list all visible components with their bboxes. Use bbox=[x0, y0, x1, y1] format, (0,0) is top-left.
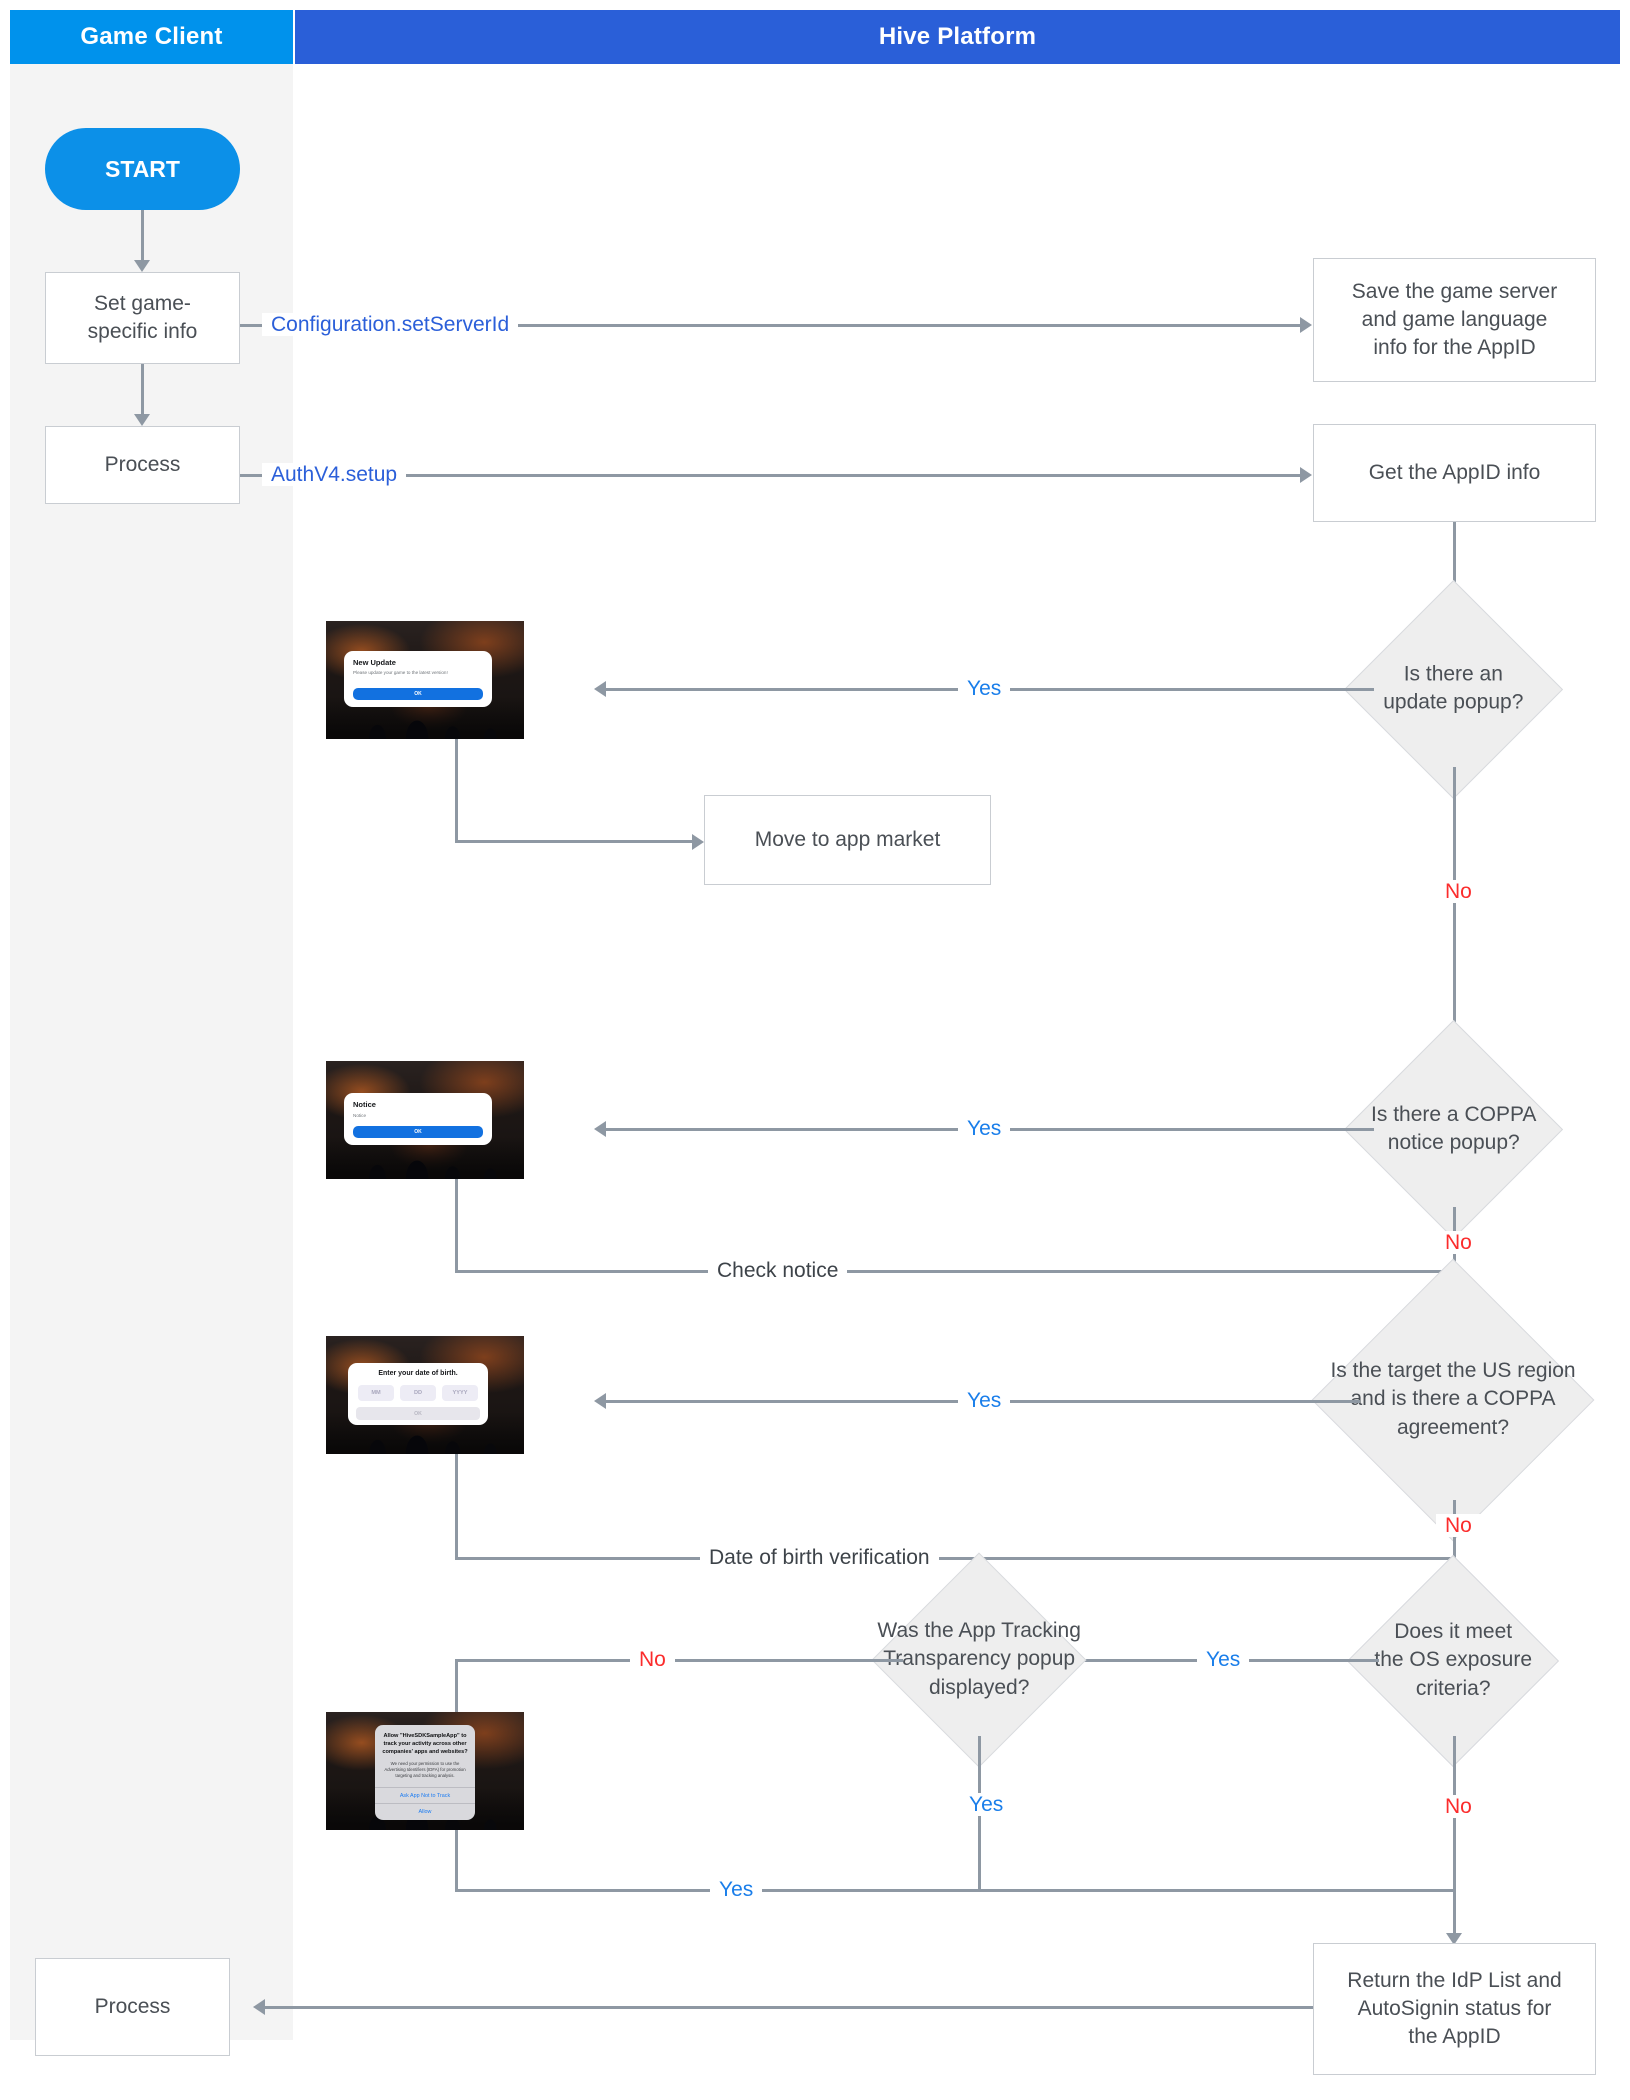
decision-att-popup-line1: Was the App Tracking bbox=[877, 1619, 1081, 1642]
connector-return-to-process-bottom bbox=[265, 2006, 1313, 2009]
arrowhead-left bbox=[594, 1121, 606, 1137]
screenshot-date-of-birth-popup: Enter your date of birth. MM DD YYYY OK bbox=[326, 1336, 524, 1454]
edge-label-att-no: No bbox=[630, 1648, 675, 1671]
decision-us-region-coppa-label: Is the target the US region and is there… bbox=[1330, 1357, 1575, 1442]
edge-label-update-no: No bbox=[1436, 880, 1481, 903]
dob-day-input[interactable]: DD bbox=[400, 1385, 436, 1401]
node-save-game-server-info[interactable]: Save the game server and game language i… bbox=[1313, 258, 1596, 382]
dialog-new-update: New Update Please update your game to th… bbox=[344, 651, 492, 707]
arrowhead-left bbox=[253, 1999, 265, 2015]
dialog-new-update-body: Please update your game to the latest ve… bbox=[353, 670, 483, 677]
connector-check-notice bbox=[455, 1270, 1455, 1273]
arrowhead-left bbox=[594, 681, 606, 697]
connector-att-yes-bottom bbox=[455, 1889, 1455, 1892]
edge-label-os-yes: Yes bbox=[1197, 1648, 1249, 1671]
connector-start-to-set-game-info bbox=[141, 210, 144, 263]
screenshot-app-tracking-transparency-popup: Allow "HiveSDKSampleApp" to track your a… bbox=[326, 1712, 524, 1830]
dialog-att-body: We need your permission to use the Adver… bbox=[382, 1761, 468, 1779]
node-move-to-app-market-label: Move to app market bbox=[755, 826, 941, 854]
connector-update-shot-to-app-market bbox=[455, 840, 698, 843]
dob-year-input[interactable]: YYYY bbox=[442, 1385, 478, 1401]
screenshot-coppa-notice-popup: Notice Notice OK bbox=[326, 1061, 524, 1179]
node-process-bottom[interactable]: Process bbox=[35, 1958, 230, 2056]
node-set-game-specific-info[interactable]: Set game- specific info bbox=[45, 272, 240, 364]
node-get-appid-info[interactable]: Get the AppID info bbox=[1313, 424, 1596, 522]
edge-label-check-notice: Check notice bbox=[708, 1259, 847, 1282]
edge-label-coppa-yes: Yes bbox=[958, 1117, 1010, 1140]
decision-os-exposure-line3: criteria? bbox=[1416, 1677, 1491, 1700]
dialog-att-allow-button[interactable]: Allow bbox=[375, 1803, 475, 1820]
node-start-label: START bbox=[105, 154, 180, 184]
node-save-game-server-info-line1: Save the game server bbox=[1352, 278, 1557, 306]
dialog-att-ask-not-to-track-button[interactable]: Ask App Not to Track bbox=[375, 1787, 475, 1804]
edge-label-us-no: No bbox=[1436, 1514, 1481, 1537]
dialog-date-of-birth: Enter your date of birth. MM DD YYYY OK bbox=[348, 1363, 488, 1425]
dialog-new-update-title: New Update bbox=[353, 658, 483, 667]
edge-label-us-yes: Yes bbox=[958, 1389, 1010, 1412]
node-start[interactable]: START bbox=[45, 128, 240, 210]
node-process-bottom-label: Process bbox=[95, 1993, 171, 2021]
arrowhead-left bbox=[594, 1393, 606, 1409]
decision-coppa-notice-label: Is there a COPPA notice popup? bbox=[1371, 1101, 1536, 1158]
edge-label-coppa-no: No bbox=[1436, 1231, 1481, 1254]
edge-label-os-no: No bbox=[1436, 1795, 1481, 1818]
decision-update-popup-line2: update popup? bbox=[1383, 691, 1523, 714]
dob-month-input[interactable]: MM bbox=[358, 1385, 394, 1401]
decision-us-region-line3: agreement? bbox=[1397, 1416, 1509, 1439]
arrowhead-right bbox=[1300, 467, 1312, 483]
decision-att-popup-line3: displayed? bbox=[929, 1676, 1029, 1699]
decision-os-exposure-label: Does it meet the OS exposure criteria? bbox=[1374, 1618, 1532, 1703]
node-save-game-server-info-line2: and game language bbox=[1362, 306, 1548, 334]
node-set-game-specific-info-line2: specific info bbox=[88, 318, 198, 346]
dialog-notice-body: Notice bbox=[353, 1113, 483, 1118]
decision-att-popup-line2: Transparency popup bbox=[883, 1648, 1075, 1671]
dialog-date-of-birth-fields: MM DD YYYY bbox=[356, 1385, 480, 1401]
arrowhead-down bbox=[134, 414, 150, 426]
dialog-new-update-ok-button[interactable]: OK bbox=[353, 688, 483, 700]
lane-header-hive-platform-label: Hive Platform bbox=[879, 23, 1036, 51]
edge-label-configuration-setserverid: Configuration.setServerId bbox=[262, 313, 518, 336]
arrowhead-down bbox=[134, 260, 150, 272]
node-process-top-label: Process bbox=[105, 451, 181, 479]
connector-dob-shot-down bbox=[455, 1454, 458, 1560]
edge-label-update-yes: Yes bbox=[958, 677, 1010, 700]
arrowhead-right bbox=[1300, 317, 1312, 333]
edge-label-authv4-setup: AuthV4.setup bbox=[262, 463, 406, 486]
dialog-notice-ok-button[interactable]: OK bbox=[353, 1126, 483, 1138]
decision-coppa-notice-line1: Is there a COPPA bbox=[1371, 1103, 1536, 1126]
edge-label-att-yes: Yes bbox=[960, 1793, 1012, 1816]
decision-os-exposure-line2: the OS exposure bbox=[1374, 1649, 1532, 1672]
lane-header-game-client-label: Game Client bbox=[80, 23, 222, 51]
node-move-to-app-market[interactable]: Move to app market bbox=[704, 795, 991, 885]
decision-coppa-notice-line2: notice popup? bbox=[1388, 1132, 1520, 1155]
decision-us-region-line2: and is there a COPPA bbox=[1350, 1388, 1555, 1411]
connector-dob-verification bbox=[455, 1557, 1455, 1560]
dialog-date-of-birth-ok-button[interactable]: OK bbox=[356, 1407, 480, 1420]
node-return-idp-list-line3: the AppID bbox=[1408, 2023, 1500, 2051]
screenshot-new-update-popup: New Update Please update your game to th… bbox=[326, 621, 524, 739]
node-set-game-specific-info-line1: Set game- bbox=[94, 290, 191, 318]
edge-label-date-of-birth-verification: Date of birth verification bbox=[700, 1546, 939, 1569]
connector-set-game-info-to-process bbox=[141, 364, 144, 417]
connector-update-shot-down bbox=[455, 739, 458, 843]
connector-os-no-down bbox=[1453, 1736, 1456, 1936]
dialog-notice-title: Notice bbox=[353, 1100, 483, 1109]
dialog-notice: Notice Notice OK bbox=[344, 1093, 492, 1145]
connector-notice-shot-down bbox=[455, 1179, 458, 1273]
connector-att-no bbox=[455, 1659, 903, 1662]
lane-header-game-client: Game Client bbox=[10, 10, 293, 64]
node-save-game-server-info-line3: info for the AppID bbox=[1373, 334, 1535, 362]
decision-is-there-update-popup-label: Is there an update popup? bbox=[1383, 661, 1523, 718]
node-return-idp-list[interactable]: Return the IdP List and AutoSignin statu… bbox=[1313, 1943, 1596, 2075]
dialog-app-tracking-transparency: Allow "HiveSDKSampleApp" to track your a… bbox=[375, 1725, 475, 1820]
node-get-appid-info-label: Get the AppID info bbox=[1369, 459, 1541, 487]
decision-update-popup-line1: Is there an bbox=[1404, 663, 1503, 686]
edge-label-att-yes-bottom: Yes bbox=[710, 1878, 762, 1901]
node-return-idp-list-line1: Return the IdP List and bbox=[1347, 1967, 1561, 1995]
node-return-idp-list-line2: AutoSignin status for bbox=[1358, 1995, 1552, 2023]
connector-att-no-down bbox=[455, 1659, 458, 1719]
decision-us-region-line1: Is the target the US region bbox=[1330, 1359, 1575, 1382]
dialog-date-of-birth-title: Enter your date of birth. bbox=[356, 1370, 480, 1377]
connector-att-shot-down bbox=[455, 1830, 458, 1892]
lane-header-hive-platform: Hive Platform bbox=[295, 10, 1620, 64]
flowchart-canvas: Game Client Hive Platform START Set game… bbox=[0, 0, 1630, 2100]
arrowhead-right bbox=[692, 834, 704, 850]
node-process-top[interactable]: Process bbox=[45, 426, 240, 504]
dialog-att-title: Allow "HiveSDKSampleApp" to track your a… bbox=[382, 1733, 468, 1757]
decision-os-exposure-line1: Does it meet bbox=[1394, 1620, 1512, 1643]
decision-att-popup-label: Was the App Tracking Transparency popup … bbox=[877, 1617, 1081, 1702]
